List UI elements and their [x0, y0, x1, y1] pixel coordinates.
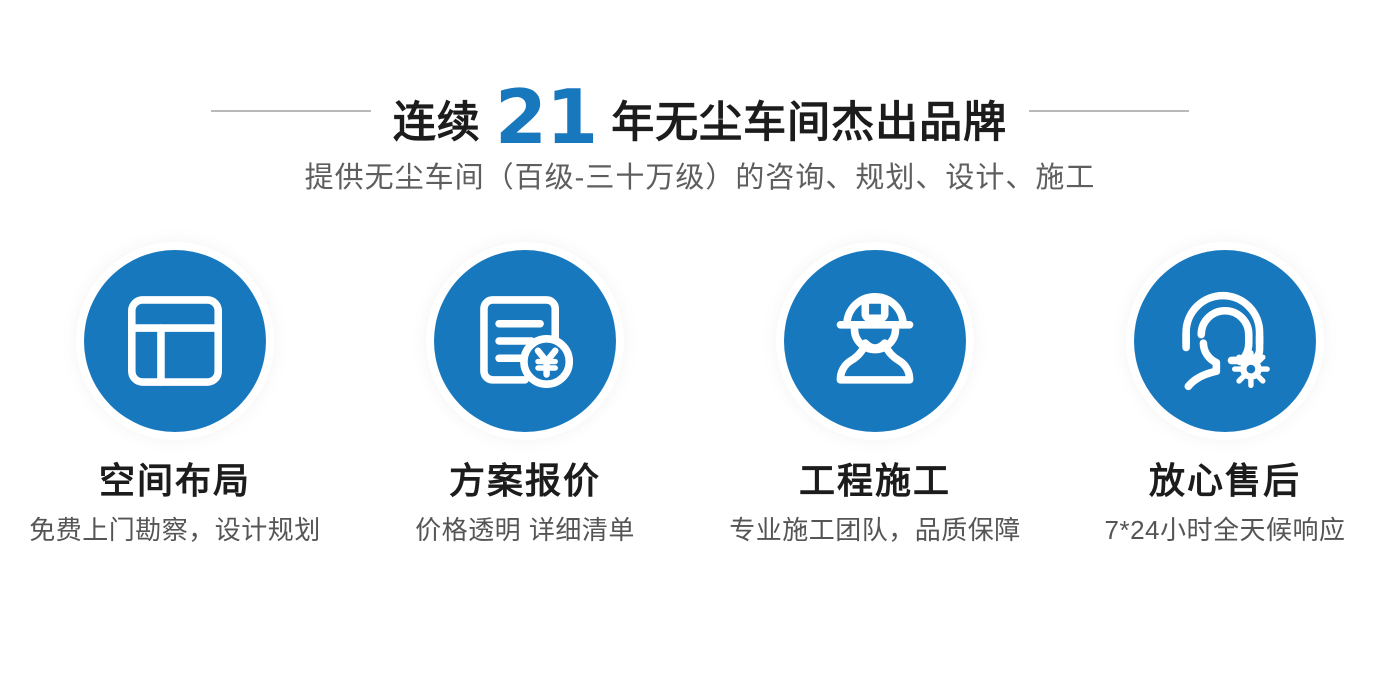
feature-description: 7*24小时全天候响应: [1105, 515, 1346, 546]
feature-icon-circle: [784, 250, 966, 432]
feature-title: 工程施工: [799, 460, 951, 501]
construction-worker-helmet-icon: [821, 287, 929, 395]
feature-item-space-layout[interactable]: 空间布局 免费上门勘察，设计规划: [0, 250, 350, 547]
layout-grid-icon: [121, 287, 229, 395]
divider-line-right: [1029, 110, 1189, 112]
feature-description: 价格透明 详细清单: [415, 515, 635, 546]
headline-number: 21: [495, 80, 597, 155]
feature-item-plan-quote[interactable]: 方案报价 价格透明 详细清单: [350, 250, 700, 547]
feature-title: 放心售后: [1149, 460, 1301, 501]
sub-headline: 提供无尘车间（百级-三十万级）的咨询、规划、设计、施工: [0, 160, 1400, 198]
feature-title: 空间布局: [99, 460, 251, 501]
feature-description: 专业施工团队，品质保障: [729, 515, 1021, 546]
headline-row: 连续 21 年无尘车间杰出品牌: [0, 78, 1400, 144]
banner-header: 连续 21 年无尘车间杰出品牌 提供无尘车间（百级-三十万级）的咨询、规划、设计…: [0, 0, 1400, 230]
feature-item-after-sales[interactable]: 放心售后 7*24小时全天候响应: [1050, 250, 1400, 547]
feature-icon-circle: [1134, 250, 1316, 432]
headline-suffix: 年无尘车间杰出品牌: [611, 102, 1007, 145]
feature-list: 空间布局 免费上门勘察，设计规划 方案报价 价格透明 详细清单: [0, 250, 1400, 547]
promo-banner: 连续 21 年无尘车间杰出品牌 提供无尘车间（百级-三十万级）的咨询、规划、设计…: [0, 0, 1400, 682]
headline: 连续 21 年无尘车间杰出品牌: [393, 74, 1007, 149]
feature-icon-circle: [434, 250, 616, 432]
document-yuan-price-icon: [471, 287, 579, 395]
headline-prefix: 连续: [393, 102, 481, 145]
feature-icon-circle: [84, 250, 266, 432]
headset-support-gear-icon: [1171, 287, 1279, 395]
divider-line-left: [211, 110, 371, 112]
feature-title: 方案报价: [449, 460, 601, 501]
feature-description: 免费上门勘察，设计规划: [29, 515, 321, 546]
feature-item-engineering-construction[interactable]: 工程施工 专业施工团队，品质保障: [700, 250, 1050, 547]
